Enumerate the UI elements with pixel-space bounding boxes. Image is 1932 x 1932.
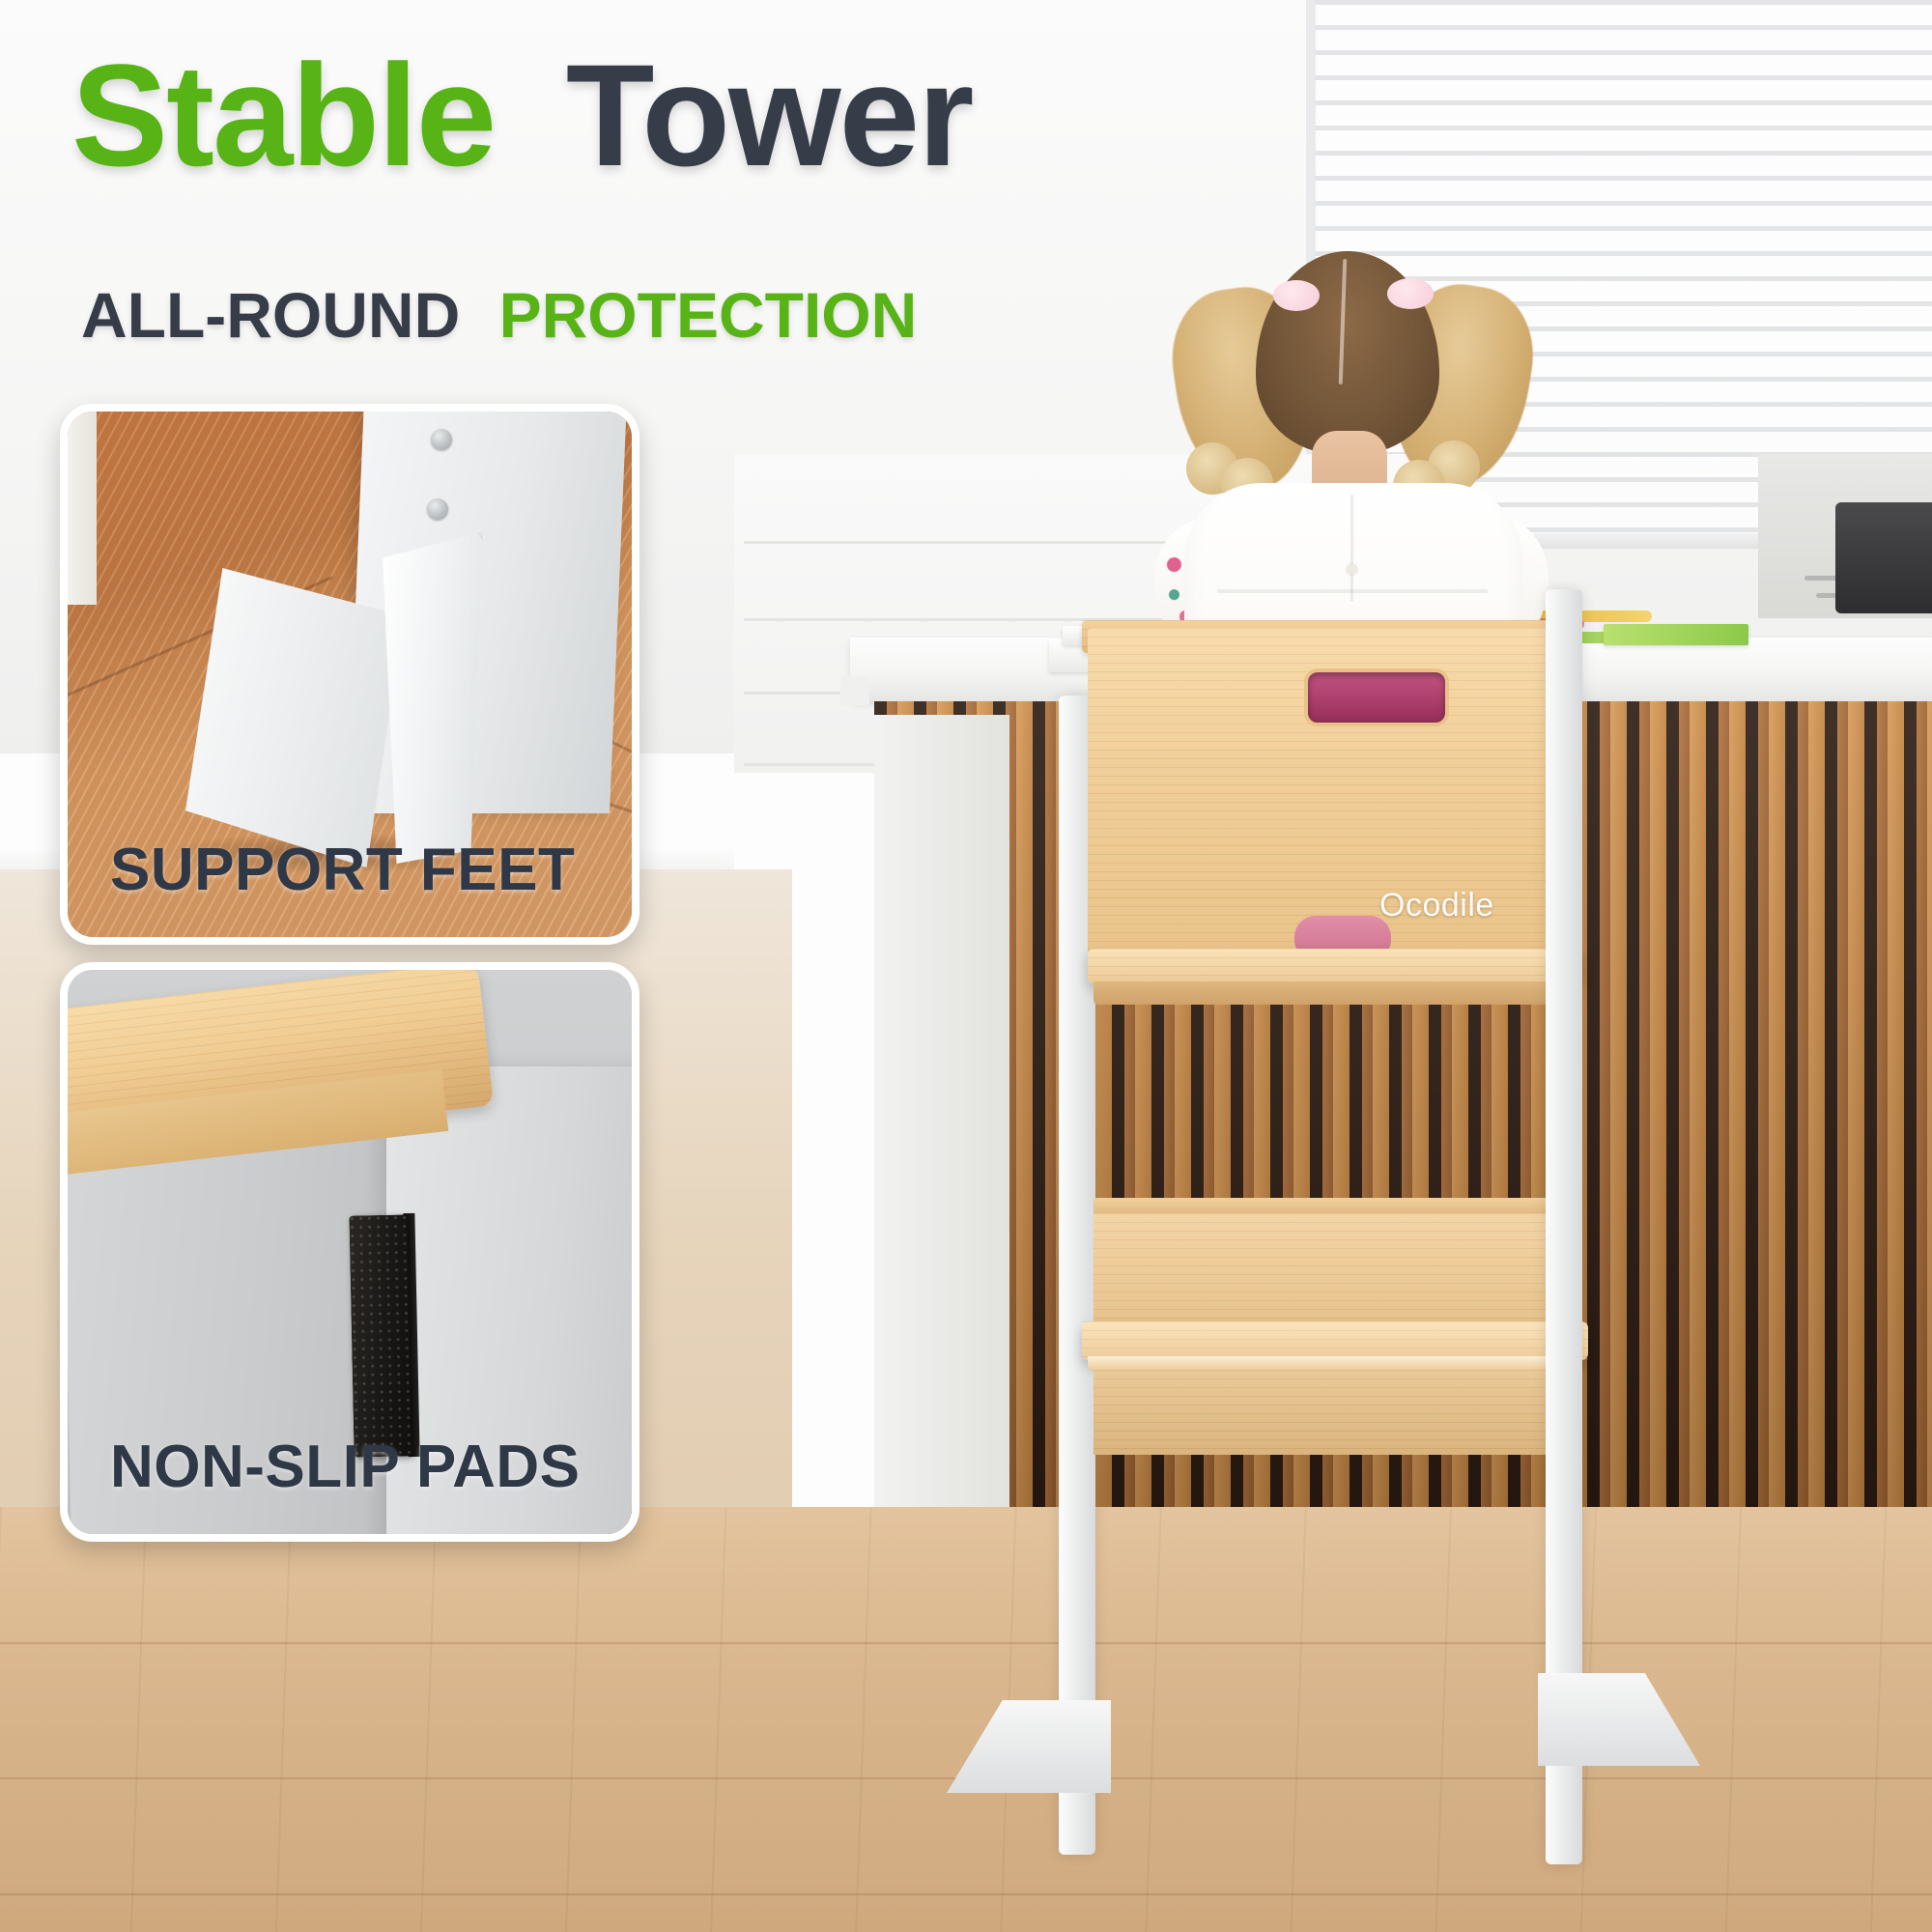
- card-caption-support-feet: SUPPORT FEET: [68, 836, 632, 904]
- subheadline: ALL-ROUND PROTECTION: [81, 278, 917, 352]
- card-wall-edge: [68, 412, 97, 605]
- feature-card-support-feet: SUPPORT FEET: [60, 404, 639, 945]
- brand-logo: Ocodile: [1379, 887, 1494, 924]
- tower-lower-back: [1094, 1213, 1577, 1325]
- tower-step-riser: [1094, 1370, 1577, 1455]
- tower-standing-platform: [1088, 949, 1582, 983]
- worktop-edge: [840, 676, 869, 705]
- tower-platform-edge: [1094, 981, 1575, 1005]
- headline-word-green: Stable: [71, 34, 495, 196]
- dark-appliance: [1835, 502, 1932, 613]
- screw-icon: [431, 429, 452, 450]
- product-marketing-image: Ocodile Stable Tower ALL-ROUND PROTECTIO…: [0, 0, 1932, 1932]
- blouse-seam: [1350, 495, 1353, 601]
- support-foot-side: [383, 531, 483, 864]
- blouse-yoke-seam: [1217, 589, 1488, 593]
- blouse-button: [1347, 564, 1357, 575]
- feature-card-non-slip-pads: NON-SLIP PADS: [60, 962, 639, 1542]
- hair-scrunchie-left: [1273, 280, 1320, 311]
- headline-word-dark: Tower: [566, 34, 973, 196]
- tower-handle-cutout: [1304, 668, 1449, 726]
- tower-support-foot-right: [1538, 1673, 1700, 1766]
- learning-tower-product: Ocodile: [976, 696, 1710, 1922]
- subheadline-part-dark: ALL-ROUND: [81, 279, 460, 351]
- pencil-case: [1604, 624, 1748, 645]
- card-caption-non-slip-pads: NON-SLIP PADS: [68, 1433, 632, 1501]
- headline: Stable Tower: [71, 43, 972, 187]
- tower-lower-step: [1082, 1321, 1588, 1360]
- non-slip-pad: [349, 1214, 412, 1457]
- subheadline-part-green: PROTECTION: [499, 279, 918, 351]
- screw-icon: [427, 498, 448, 520]
- hair-scrunchie-right: [1387, 278, 1434, 309]
